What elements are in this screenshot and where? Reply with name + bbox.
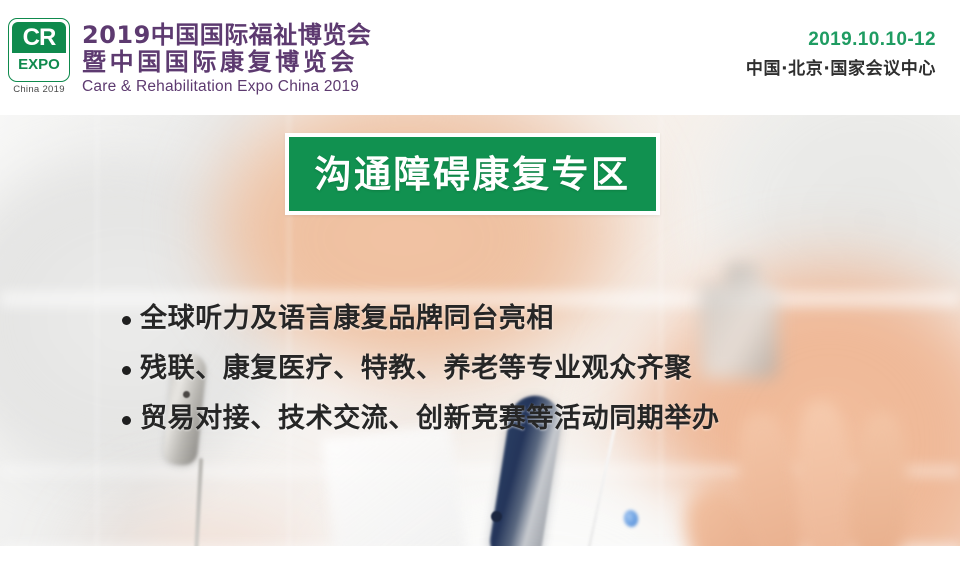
event-title-line-2: 暨中国国际康复博览会: [82, 49, 371, 76]
event-title-english: Care & Rehabilitation Expo China 2019: [82, 76, 371, 98]
bullet-dot-icon: [122, 366, 131, 375]
feature-bullet-text: 全球听力及语言康复品牌同台亮相: [140, 303, 554, 335]
photo-bottom-strip: [0, 546, 960, 562]
photo-seam-1: [96, 113, 98, 562]
hearing-aid-navy-port: [491, 511, 502, 522]
banner-photo-stage: 沟通障碍康复专区 全球听力及语言康复品牌同台亮相 残联、康复医疗、特教、养老等专…: [0, 113, 960, 562]
feature-bullet-list: 全球听力及语言康复品牌同台亮相 残联、康复医疗、特教、养老等专业观众齐聚 贸易对…: [122, 303, 720, 453]
logo-expo-badge: EXPO: [12, 52, 66, 77]
zone-headline-text: 沟通障碍康复专区: [315, 156, 631, 193]
logo-inner: CR EXPO: [12, 22, 66, 78]
feature-bullet-item: 全球听力及语言康复品牌同台亮相: [122, 303, 720, 335]
event-title-block: 2019中国国际福祉博览会 暨中国国际康复博览会 Care & Rehabili…: [82, 22, 371, 98]
feature-bullet-text: 残联、康复医疗、特教、养老等专业观众齐聚: [140, 353, 692, 385]
feature-bullet-item: 残联、康复医疗、特教、养老等专业观众齐聚: [122, 353, 720, 385]
zone-headline-box: 沟通障碍康复专区: [285, 133, 660, 215]
logo-expo-text: EXPO: [18, 57, 60, 72]
promo-poster: CR EXPO China 2019 2019中国国际福祉博览会 暨中国国际康复…: [0, 0, 960, 562]
logo-cr-text: CR: [23, 26, 56, 50]
logo-cr-badge: CR: [12, 22, 66, 53]
logo-region-year: China 2019: [8, 84, 70, 95]
event-meta-block: 2019.10.10-12 中国·北京·国家会议中心: [746, 28, 936, 82]
poster-header: CR EXPO China 2019 2019中国国际福祉博览会 暨中国国际康复…: [0, 0, 960, 115]
cr-expo-logo: CR EXPO China 2019: [8, 18, 74, 100]
bullet-dot-icon: [122, 416, 131, 425]
event-venue: 中国·北京·国家会议中心: [746, 56, 936, 82]
event-title-line-1: 2019中国国际福祉博览会: [82, 22, 371, 49]
event-date: 2019.10.10-12: [746, 28, 936, 52]
feature-bullet-text: 贸易对接、技术交流、创新竞赛等活动同期举办: [140, 403, 720, 435]
feature-bullet-item: 贸易对接、技术交流、创新竞赛等活动同期举办: [122, 403, 720, 435]
logo-frame: CR EXPO: [8, 18, 70, 82]
bullet-dot-icon: [122, 316, 131, 325]
